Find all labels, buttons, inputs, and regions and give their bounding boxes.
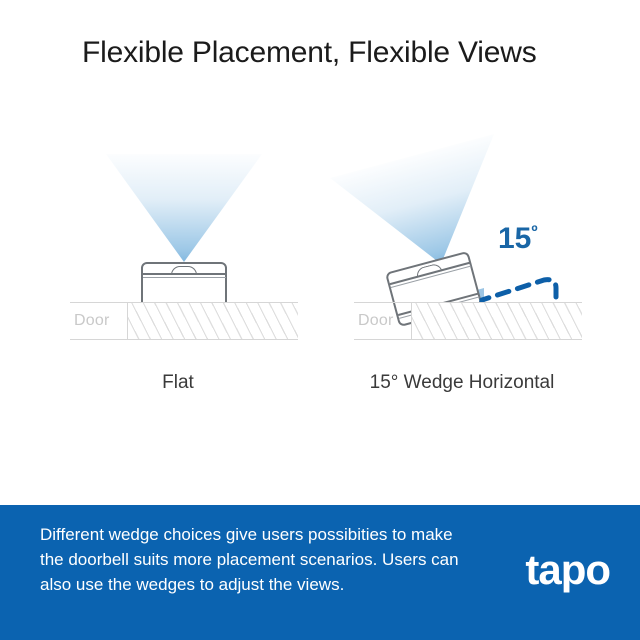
wall-bottom-line: [70, 339, 298, 340]
diagram-wedge-15: 15º Door 15° Wedge Horizontal: [312, 110, 612, 410]
device-top-strip: [143, 273, 226, 275]
diagram-wedge-stage: 15º Door: [312, 110, 612, 360]
angle-label-15: 15º: [498, 222, 538, 256]
caption-flat: Flat: [28, 372, 328, 394]
door-label: Door: [74, 312, 109, 330]
view-cone-gradient: [106, 154, 262, 262]
wall-section-flat: Door: [70, 302, 298, 340]
degree-symbol: º: [531, 222, 537, 241]
device-mid-strip: [143, 277, 226, 278]
wall-hatch-pattern: [412, 303, 582, 339]
wall-hatch-pattern: [128, 303, 298, 339]
view-cone-flat: [106, 154, 262, 262]
wall-bottom-line: [354, 339, 582, 340]
banner-description: Different wedge choices give users possi…: [40, 522, 470, 597]
page-title: Flexible Placement, Flexible Views: [82, 36, 537, 70]
door-cell: Door: [354, 303, 412, 339]
bottom-banner: Different wedge choices give users possi…: [0, 505, 640, 640]
diagram-flat-stage: Door: [28, 110, 328, 360]
wall-section-wedge: Door: [354, 302, 582, 340]
door-cell: Door: [70, 303, 128, 339]
door-label: Door: [358, 312, 393, 330]
diagram-area: Door Flat: [0, 110, 640, 410]
caption-wedge-15: 15° Wedge Horizontal: [312, 372, 612, 394]
diagram-flat: Door Flat: [28, 110, 328, 410]
angle-value: 15: [498, 222, 531, 255]
tapo-logo: tapo: [525, 549, 610, 591]
